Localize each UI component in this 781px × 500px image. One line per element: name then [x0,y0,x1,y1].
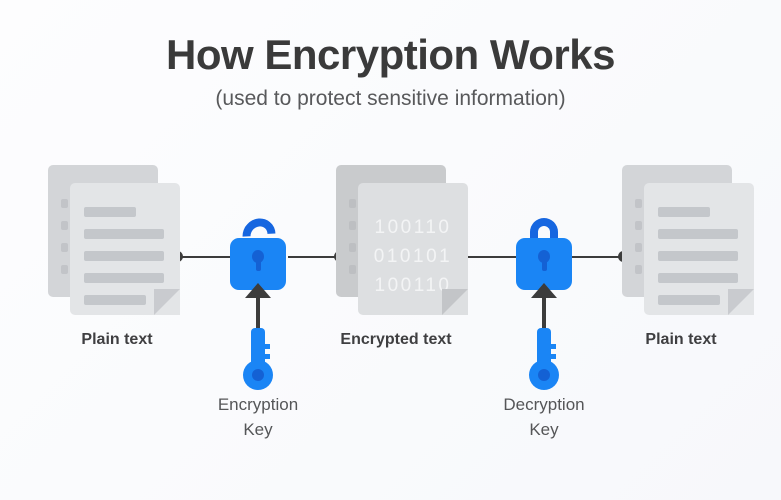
document-icon-plain-left [48,165,180,315]
document-tick [635,199,642,208]
document-text-line [84,229,164,239]
document-text-line [84,207,136,217]
document-fold-corner [154,289,180,315]
document-text-line [84,251,164,261]
document-text-line [658,251,738,261]
document-tick [349,221,356,230]
key-tooth [549,344,556,349]
document-text-line [658,295,720,305]
document-tick [635,265,642,274]
key-bow [243,360,273,390]
document-tick [349,199,356,208]
binary-row-1: 100110 [358,213,468,242]
key-icon-encryption [243,328,273,390]
label-encryption-key-line1: Encryption [158,392,358,417]
connector-line-encrypted-to-lock2 [462,256,524,258]
key-tooth [263,344,270,349]
document-tick [61,243,68,252]
label-decryption-key: Decryption Key [444,392,644,442]
document-tick [349,265,356,274]
key-bow [529,360,559,390]
lock-icon [516,218,572,290]
document-fold-corner [728,289,754,315]
label-encryption-key: Encryption Key [158,392,358,442]
unlock-icon [230,218,286,290]
label-encrypted-text: Encrypted text [286,331,506,349]
document-icon-encrypted: 100110 010101 100110 [336,165,468,315]
document-tick [61,221,68,230]
arrow-up-icon-encryption [245,283,271,331]
binary-row-2: 010101 [358,242,468,271]
document-tick [635,243,642,252]
document-tick [635,221,642,230]
label-encryption-key-line2: Key [158,417,358,442]
page-title: How Encryption Works [0,32,781,78]
key-tooth [263,354,270,359]
keyhole-icon [252,250,264,263]
encrypted-binary-content: 100110 010101 100110 [358,213,468,300]
page-subtitle: (used to protect sensitive information) [0,86,781,111]
document-text-line [658,273,738,283]
document-icon-plain-right [622,165,754,315]
label-plain-text-left: Plain text [7,331,227,349]
keyhole-icon [538,250,550,263]
document-text-line [84,273,164,283]
key-icon-decryption [529,328,559,390]
document-front-page [70,183,180,315]
document-fold-corner [442,289,468,315]
document-text-line [658,207,710,217]
arrow-up-icon-decryption [531,283,557,331]
arrow-stem [542,293,546,331]
document-text-line [658,229,738,239]
document-tick [61,199,68,208]
document-text-line [84,295,146,305]
document-tick [349,243,356,252]
label-decryption-key-line2: Key [444,417,644,442]
label-plain-text-right: Plain text [571,331,781,349]
arrow-stem [256,293,260,331]
key-tooth [549,354,556,359]
label-decryption-key-line1: Decryption [444,392,644,417]
diagram-canvas: How Encryption Works (used to protect se… [0,0,781,500]
document-tick [61,265,68,274]
document-front-page [644,183,754,315]
document-front-page: 100110 010101 100110 [358,183,468,315]
